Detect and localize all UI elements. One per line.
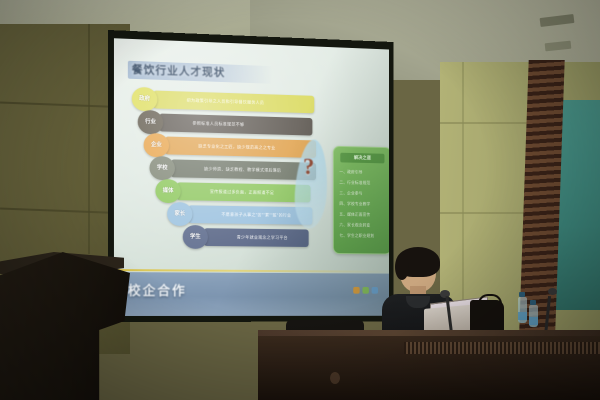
solution-item: 六、家长观念转变 bbox=[339, 219, 387, 230]
slide-title: 餐饮行业人才现状 bbox=[128, 61, 273, 84]
screen-surface: 餐饮行业人才现状 把为政策引导之人员和引导餐饮服务人员政府参照标准人员标准规范不… bbox=[114, 38, 389, 316]
slide-row-bar: 参照标准人员标准规范不够 bbox=[159, 114, 312, 136]
slide-row-text: 缺乏专业化之工匠，缺少规范高之之专业 bbox=[165, 137, 316, 158]
slide-row-text: 宣传报道过多负面，正面报道不足 bbox=[177, 182, 311, 202]
footer-dot-group bbox=[353, 287, 378, 294]
slide-row: 青少年就业观念之学习平台学生 bbox=[132, 224, 353, 252]
table-slat-detail bbox=[404, 342, 600, 354]
solution-item: 四、学校专业教学 bbox=[339, 198, 387, 209]
slide-row-label: 学校 bbox=[150, 156, 175, 180]
slide-row-label: 学生 bbox=[183, 225, 208, 249]
slide-row-bar: 缺乏专业化之工匠，缺少规范高之之专业 bbox=[165, 137, 316, 158]
projection-screen: 餐饮行业人才现状 把为政策引导之人员和引导餐饮服务人员政府参照标准人员标准规范不… bbox=[108, 30, 394, 322]
solution-item-list: 一、政府引导二、行业标准规范三、企业参与四、学校专业教学五、媒体正面宣传六、家长… bbox=[339, 166, 387, 241]
slide-row-text: 青少年就业观念之学习平台 bbox=[204, 228, 309, 247]
slide-row-badge: 学生 bbox=[183, 225, 208, 249]
slide-row-bar: 宣传报道过多负面，正面报道不足 bbox=[177, 182, 311, 202]
bottle-label bbox=[529, 317, 538, 325]
bottle-label bbox=[518, 312, 527, 320]
slide-row-badge: 政府 bbox=[132, 87, 158, 112]
slide-row-label: 媒体 bbox=[155, 179, 180, 203]
wall-seam-vertical bbox=[88, 24, 90, 254]
slide-footer: 校企合作 bbox=[114, 272, 389, 316]
slide-content: 餐饮行业人才现状 把为政策引导之人员和引导餐饮服务人员政府参照标准人员标准规范不… bbox=[114, 38, 389, 316]
question-mark-icon: ? bbox=[303, 155, 314, 181]
slide-row-label: 家长 bbox=[167, 202, 192, 226]
solution-panel: 解决之道 一、政府引导二、行业标准规范三、企业参与四、学校专业教学五、媒体正面宣… bbox=[333, 146, 389, 255]
solution-item: 三、企业参与 bbox=[339, 187, 387, 198]
slide-row-badge: 学校 bbox=[150, 156, 175, 180]
footer-dot bbox=[362, 287, 368, 294]
slide-row-badge: 行业 bbox=[138, 110, 164, 135]
slide-row-label: 行业 bbox=[138, 110, 164, 135]
footer-accent-line bbox=[114, 269, 389, 273]
solution-panel-title: 解决之道 bbox=[340, 153, 384, 164]
slide-row-bar: 青少年就业观念之学习平台 bbox=[204, 228, 309, 247]
slide-row-badge: 企业 bbox=[144, 133, 169, 157]
slide-row-text: 参照标准人员标准规范不够 bbox=[159, 114, 312, 136]
slide-row-text: 不愿意孩子从事之"苦""累""脏"的行业 bbox=[189, 205, 313, 224]
microphone-icon bbox=[548, 288, 557, 295]
footer-title-text: 校企合作 bbox=[128, 280, 187, 299]
slide-title-text: 餐饮行业人才现状 bbox=[128, 61, 273, 84]
slide-row-label: 企业 bbox=[144, 133, 169, 157]
slide-row-label: 政府 bbox=[132, 87, 158, 112]
presentation-room-photo: 餐饮行业人才现状 把为政策引导之人员和引导餐饮服务人员政府参照标准人员标准规范不… bbox=[0, 0, 600, 400]
slide-row-badge: 媒体 bbox=[155, 179, 180, 203]
bag bbox=[470, 300, 504, 334]
footer-dot bbox=[372, 287, 378, 294]
solution-item: 七、学生之职业规划 bbox=[339, 230, 387, 241]
slide-row-bar: 缺少师资、缺乏教程、教学模式滞后落后 bbox=[171, 159, 316, 180]
slide-row-text: 缺少师资、缺乏教程、教学模式滞后落后 bbox=[171, 159, 316, 180]
slide-row-text: 把为政策引导之人员和引导餐饮服务人员 bbox=[153, 91, 314, 114]
slide-row-bar: 不愿意孩子从事之"苦""累""脏"的行业 bbox=[189, 205, 313, 224]
solution-panel-header: 解决之道 bbox=[340, 153, 384, 164]
table-knob bbox=[330, 372, 340, 384]
slide-row-bar: 把为政策引导之人员和引导餐饮服务人员 bbox=[153, 91, 314, 114]
teal-wall-panel bbox=[556, 100, 600, 310]
presenter-hair-side bbox=[395, 254, 409, 280]
solution-item: 五、媒体正面宣传 bbox=[339, 209, 387, 220]
slide-row-badge: 家长 bbox=[167, 202, 192, 226]
footer-dot bbox=[353, 287, 359, 294]
